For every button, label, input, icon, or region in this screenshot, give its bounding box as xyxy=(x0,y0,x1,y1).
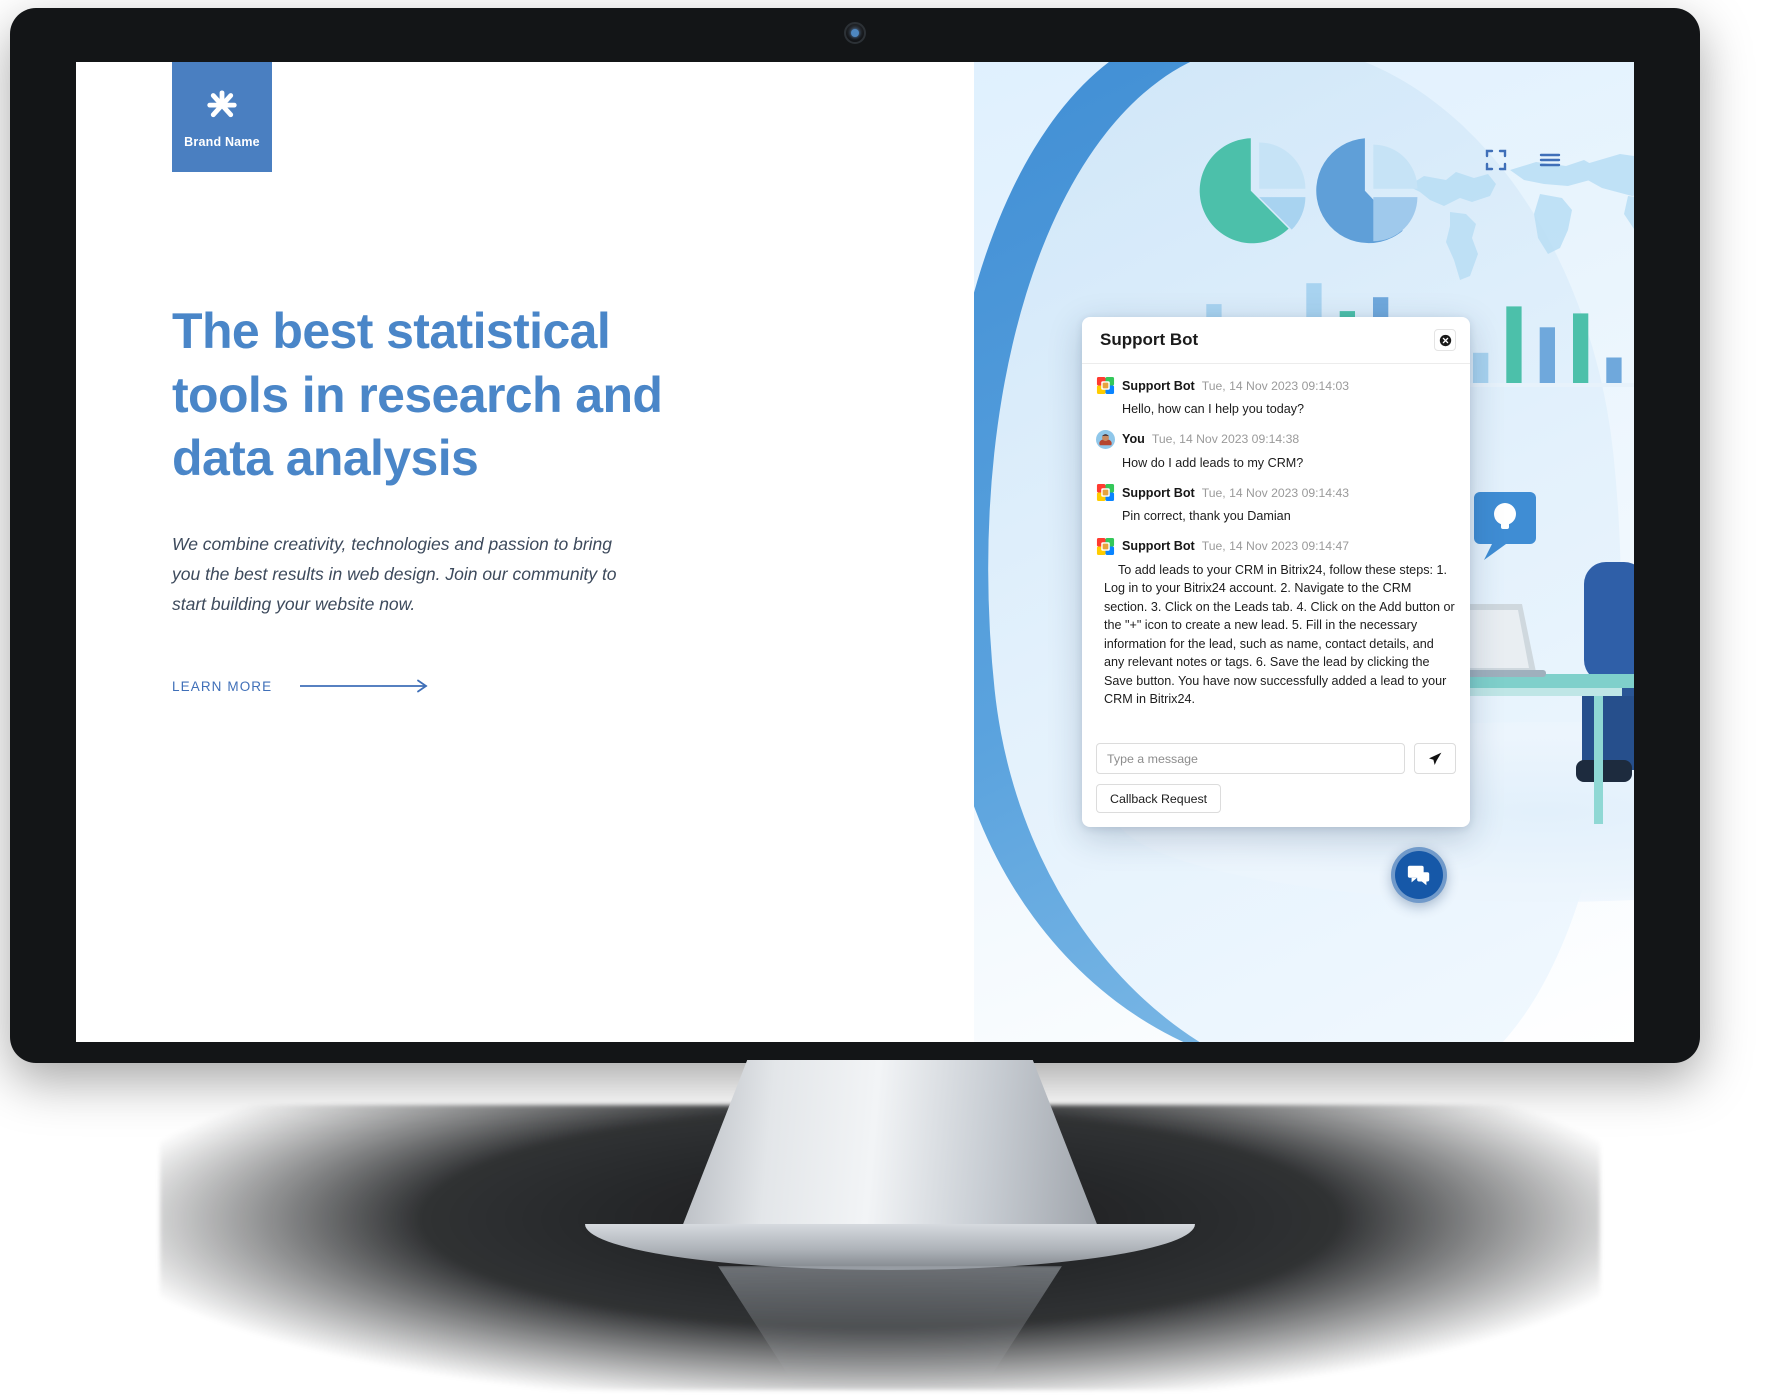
bar xyxy=(1540,327,1555,383)
close-icon[interactable] xyxy=(1434,329,1456,351)
chat-bubbles-icon xyxy=(1406,862,1432,888)
hero-text-block: The best statistical tools in research a… xyxy=(172,300,712,694)
chat-message: Support BotTue, 14 Nov 2023 09:14:03Hell… xyxy=(1096,376,1456,419)
webcam-lens xyxy=(851,29,859,37)
chat-message-author: Support Bot xyxy=(1122,539,1195,553)
fullscreen-icon[interactable] xyxy=(1484,148,1508,172)
bitrix24-logo-icon xyxy=(1096,376,1115,395)
user-avatar-icon xyxy=(1096,430,1115,449)
chat-message: YouTue, 14 Nov 2023 09:14:38How do I add… xyxy=(1096,430,1456,473)
idea-bubble-icon xyxy=(1474,492,1536,560)
chat-message-header: Support BotTue, 14 Nov 2023 09:14:43 xyxy=(1096,483,1456,502)
chat-message-text: Hello, how can I help you today? xyxy=(1096,400,1456,419)
message-input[interactable] xyxy=(1096,743,1405,774)
hamburger-menu-icon[interactable] xyxy=(1538,148,1562,172)
chat-footer: Callback Request xyxy=(1082,737,1470,827)
bar xyxy=(1506,306,1521,383)
brand-name-label: Brand Name xyxy=(184,135,260,149)
chat-message: Support BotTue, 14 Nov 2023 09:14:43Pin … xyxy=(1096,483,1456,526)
chat-message-timestamp: Tue, 14 Nov 2023 09:14:38 xyxy=(1152,432,1299,446)
chat-message-list[interactable]: Support BotTue, 14 Nov 2023 09:14:03Hell… xyxy=(1082,364,1470,737)
screenshot-root: Brand Name The best statistical tools in… xyxy=(0,0,1780,1399)
page-title: The best statistical tools in research a… xyxy=(172,300,712,491)
header-icon-group xyxy=(1484,148,1562,172)
chat-message-text: Pin correct, thank you Damian xyxy=(1096,507,1456,526)
chat-message-header: Support BotTue, 14 Nov 2023 09:14:03 xyxy=(1096,376,1456,395)
bitrix24-logo-icon xyxy=(1096,537,1115,556)
long-right-arrow-icon xyxy=(300,679,432,693)
bitrix24-logo-icon xyxy=(1096,483,1115,502)
callback-request-button[interactable]: Callback Request xyxy=(1096,784,1221,813)
chat-launcher-button[interactable] xyxy=(1391,847,1447,903)
chat-message-header: YouTue, 14 Nov 2023 09:14:38 xyxy=(1096,430,1456,449)
monitor-stand-neck xyxy=(680,1060,1100,1232)
bitrix24-logo-icon xyxy=(1096,483,1115,502)
send-paper-plane-icon xyxy=(1427,751,1443,767)
bar xyxy=(1573,313,1588,383)
close-circle-icon xyxy=(1439,334,1452,347)
browser-screen: Brand Name The best statistical tools in… xyxy=(76,62,1634,1042)
chat-message-author: Support Bot xyxy=(1122,379,1195,393)
chat-message-header: Support BotTue, 14 Nov 2023 09:14:47 xyxy=(1096,537,1456,556)
bar xyxy=(1606,358,1621,384)
learn-more-label[interactable]: LEARN MORE xyxy=(172,679,272,694)
pie-chart-blue-icon xyxy=(1304,132,1430,258)
user-avatar-icon xyxy=(1096,430,1115,449)
brand-logo-box[interactable]: Brand Name xyxy=(172,62,272,172)
chat-message-author: You xyxy=(1122,432,1145,446)
chat-title: Support Bot xyxy=(1100,330,1434,350)
bar xyxy=(1473,353,1488,383)
send-button[interactable] xyxy=(1414,743,1456,774)
chat-message-timestamp: Tue, 14 Nov 2023 09:14:03 xyxy=(1202,379,1349,393)
chat-message-timestamp: Tue, 14 Nov 2023 09:14:43 xyxy=(1202,486,1349,500)
support-bot-chat-panel: Support Bot Support BotTue, 14 Nov 2023 … xyxy=(1082,317,1470,827)
learn-more-cta[interactable]: LEARN MORE xyxy=(172,679,712,694)
bitrix24-logo-icon xyxy=(1096,376,1115,395)
chat-message-author: Support Bot xyxy=(1122,486,1195,500)
pie-chart-teal-icon xyxy=(1192,132,1318,258)
bitrix24-logo-icon xyxy=(1096,537,1115,556)
chat-message-text: How do I add leads to my CRM? xyxy=(1096,454,1456,473)
chat-message-timestamp: Tue, 14 Nov 2023 09:14:47 xyxy=(1202,539,1349,553)
hero-subtitle: We combine creativity, technologies and … xyxy=(172,529,712,619)
chat-message-text: To add leads to your CRM in Bitrix24, fo… xyxy=(1096,561,1456,709)
asterisk-star-icon xyxy=(201,85,243,127)
chat-header: Support Bot xyxy=(1082,317,1470,364)
chat-message: Support BotTue, 14 Nov 2023 09:14:47To a… xyxy=(1096,537,1456,709)
chat-input-row xyxy=(1096,743,1456,774)
